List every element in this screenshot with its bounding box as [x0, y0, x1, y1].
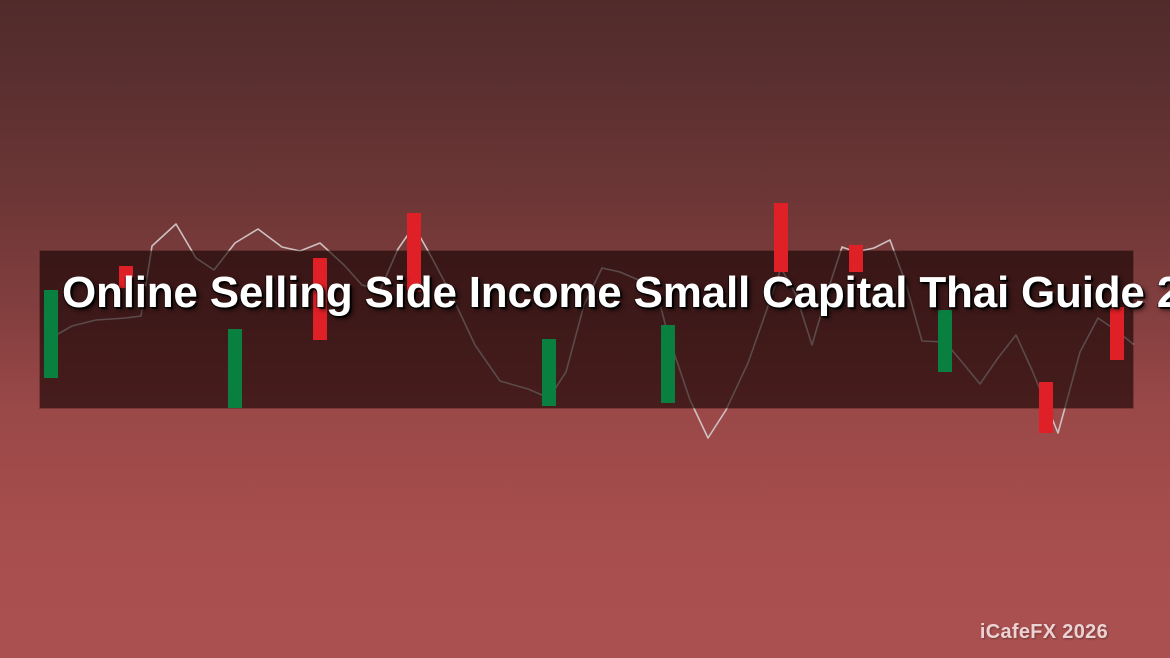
page-title: Online Selling Side Income Small Capital… — [62, 268, 1122, 318]
watermark-label: iCafeFX 2026 — [980, 621, 1108, 644]
image-canvas: Online Selling Side Income Small Capital… — [0, 0, 1170, 658]
